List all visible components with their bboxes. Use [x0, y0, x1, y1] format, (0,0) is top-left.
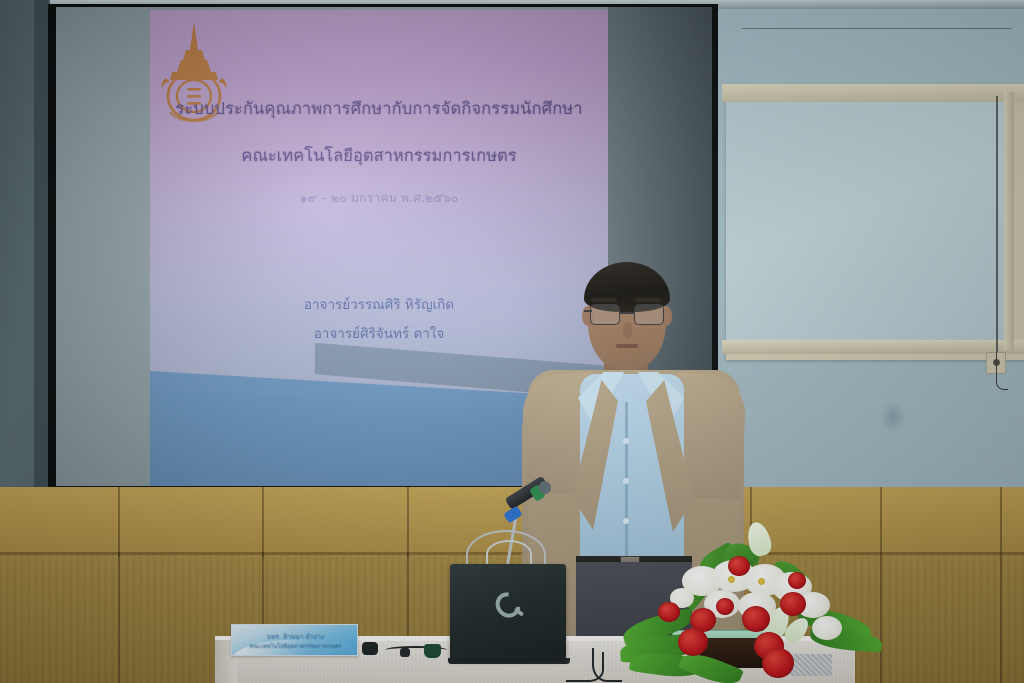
presenter-eyebrow-left [591, 298, 617, 302]
eyeglasses-icon [590, 304, 620, 325]
eyeglasses-bridge [620, 312, 634, 314]
whiteboard-hanging-wire [996, 96, 998, 354]
shirt-button [623, 438, 629, 444]
desk-small-object [400, 648, 410, 657]
presentation-room-photo: ระบบประกันคุณภาพการศึกษากับการจัดกิจกรรม… [0, 0, 1024, 683]
red-rose [728, 556, 750, 576]
red-rose [716, 598, 734, 615]
whiteboard-surface [726, 100, 1012, 346]
socket-cord [996, 352, 1008, 390]
presenter-mouth [616, 344, 638, 348]
slide-date: ๑๙ – ๒๐ มกราคม พ.ศ.๒๕๖๐ [150, 188, 608, 208]
eyeglasses-icon [634, 304, 664, 325]
red-rose [742, 606, 770, 632]
shirt-button [623, 478, 629, 484]
wood-seam [118, 552, 120, 683]
whiteboard-bottom-rail [722, 340, 1024, 354]
wood-seam [407, 487, 409, 557]
red-rose [780, 592, 806, 616]
flower-center [728, 576, 735, 583]
wall-smudge [880, 400, 906, 434]
white-flower [812, 616, 842, 640]
slide-title-line-2: คณะเทคโนโลยีอุตสาหกรรมการเกษตร [150, 143, 608, 169]
red-rose [762, 648, 794, 678]
flower-arrangement [620, 520, 890, 683]
placard-line-2: คณะเทคโนโลยีอุตสาหกรรมการเกษตร [232, 643, 358, 651]
eyeglasses-arm [584, 310, 592, 312]
desk-cable [592, 648, 622, 682]
slide-title-line-1: ระบบประกันคุณภาพการศึกษากับการจัดกิจกรรม… [150, 96, 608, 122]
name-placard: มทร. ล้านนา ลำปาง คณะเทคโนโลยีอุตสาหกรรม… [231, 624, 358, 656]
presenter-eyebrow-right [635, 298, 661, 302]
whiteboard-right-rail [1004, 92, 1014, 350]
placard-line-1: มทร. ล้านนา ลำปาง [232, 632, 358, 642]
red-rose [788, 572, 806, 589]
desk-adapter [362, 642, 378, 655]
whiteboard-top-rail [722, 84, 1024, 102]
red-rose [678, 628, 708, 656]
wood-seam [262, 487, 264, 557]
presenter-nose [623, 322, 632, 338]
wood-seam [118, 487, 120, 557]
wood-seam [1000, 487, 1002, 683]
desk-connector [424, 644, 441, 658]
flower-center [758, 578, 765, 585]
red-rose [658, 602, 680, 622]
